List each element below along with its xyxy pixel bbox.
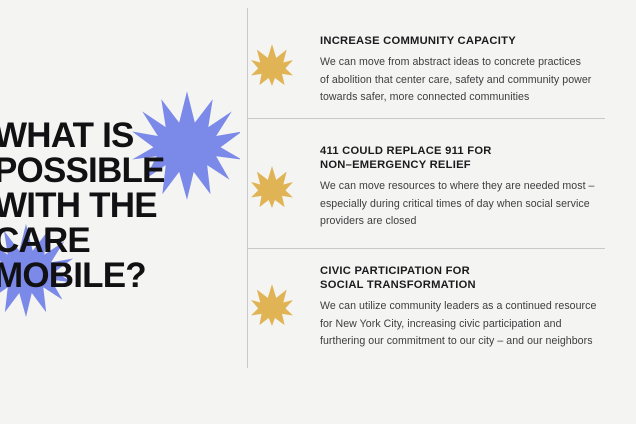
- star-icon-wrap: [248, 144, 296, 208]
- item-title-line: SOCIAL TRANSFORMATION: [320, 278, 636, 292]
- item-body: We can move from abstract ideas to concr…: [320, 54, 636, 107]
- item-body-line: towards safer, more connected communitie…: [320, 89, 636, 107]
- item-body: We can move resources to where they are …: [320, 178, 636, 231]
- item-body-line: furthering our commitment to our city – …: [320, 333, 636, 351]
- item-body-line: providers are closed: [320, 213, 636, 231]
- gold-star-icon: [251, 166, 293, 208]
- page-title: WHAT IS POSSIBLE WITH THE CARE MOBILE?: [0, 118, 240, 293]
- headline-line-2: POSSIBLE: [0, 153, 240, 188]
- item-title-line: INCREASE COMMUNITY CAPACITY: [320, 34, 636, 48]
- item-body-line: We can utilize community leaders as a co…: [320, 298, 636, 316]
- item-title-line: 411 COULD REPLACE 911 FOR: [320, 144, 636, 158]
- item-body-line: We can move resources to where they are …: [320, 178, 636, 196]
- item-title: 411 COULD REPLACE 911 FOR NON–EMERGENCY …: [320, 144, 636, 172]
- item-body-line: of abolition that center care, safety an…: [320, 72, 636, 90]
- item-text: INCREASE COMMUNITY CAPACITY We can move …: [296, 34, 636, 107]
- headline-line-3: WITH THE: [0, 188, 240, 223]
- headline-line-5: MOBILE?: [0, 258, 240, 293]
- slide-canvas: WHAT IS POSSIBLE WITH THE CARE MOBILE? I…: [0, 0, 636, 424]
- item-text: 411 COULD REPLACE 911 FOR NON–EMERGENCY …: [296, 144, 636, 231]
- item-title: INCREASE COMMUNITY CAPACITY: [320, 34, 636, 48]
- gold-star-icon: [251, 284, 293, 326]
- headline-line-1: WHAT IS: [0, 118, 240, 153]
- list-item: 411 COULD REPLACE 911 FOR NON–EMERGENCY …: [248, 144, 636, 231]
- headline-line-4: CARE: [0, 223, 240, 258]
- star-icon-wrap: [248, 34, 296, 86]
- gold-star-icon: [251, 44, 293, 86]
- benefits-list: INCREASE COMMUNITY CAPACITY We can move …: [248, 0, 636, 424]
- item-body: We can utilize community leaders as a co…: [320, 298, 636, 351]
- item-text: CIVIC PARTICIPATION FOR SOCIAL TRANSFORM…: [296, 264, 636, 351]
- star-icon-wrap: [248, 264, 296, 326]
- item-title: CIVIC PARTICIPATION FOR SOCIAL TRANSFORM…: [320, 264, 636, 292]
- item-body-line: for New York City, increasing civic part…: [320, 316, 636, 334]
- list-item: INCREASE COMMUNITY CAPACITY We can move …: [248, 34, 636, 107]
- item-title-line: CIVIC PARTICIPATION FOR: [320, 264, 636, 278]
- item-body-line: especially during critical times of day …: [320, 196, 636, 214]
- list-item: CIVIC PARTICIPATION FOR SOCIAL TRANSFORM…: [248, 264, 636, 351]
- headline-panel: WHAT IS POSSIBLE WITH THE CARE MOBILE?: [0, 0, 240, 424]
- item-title-line: NON–EMERGENCY RELIEF: [320, 158, 636, 172]
- item-body-line: We can move from abstract ideas to concr…: [320, 54, 636, 72]
